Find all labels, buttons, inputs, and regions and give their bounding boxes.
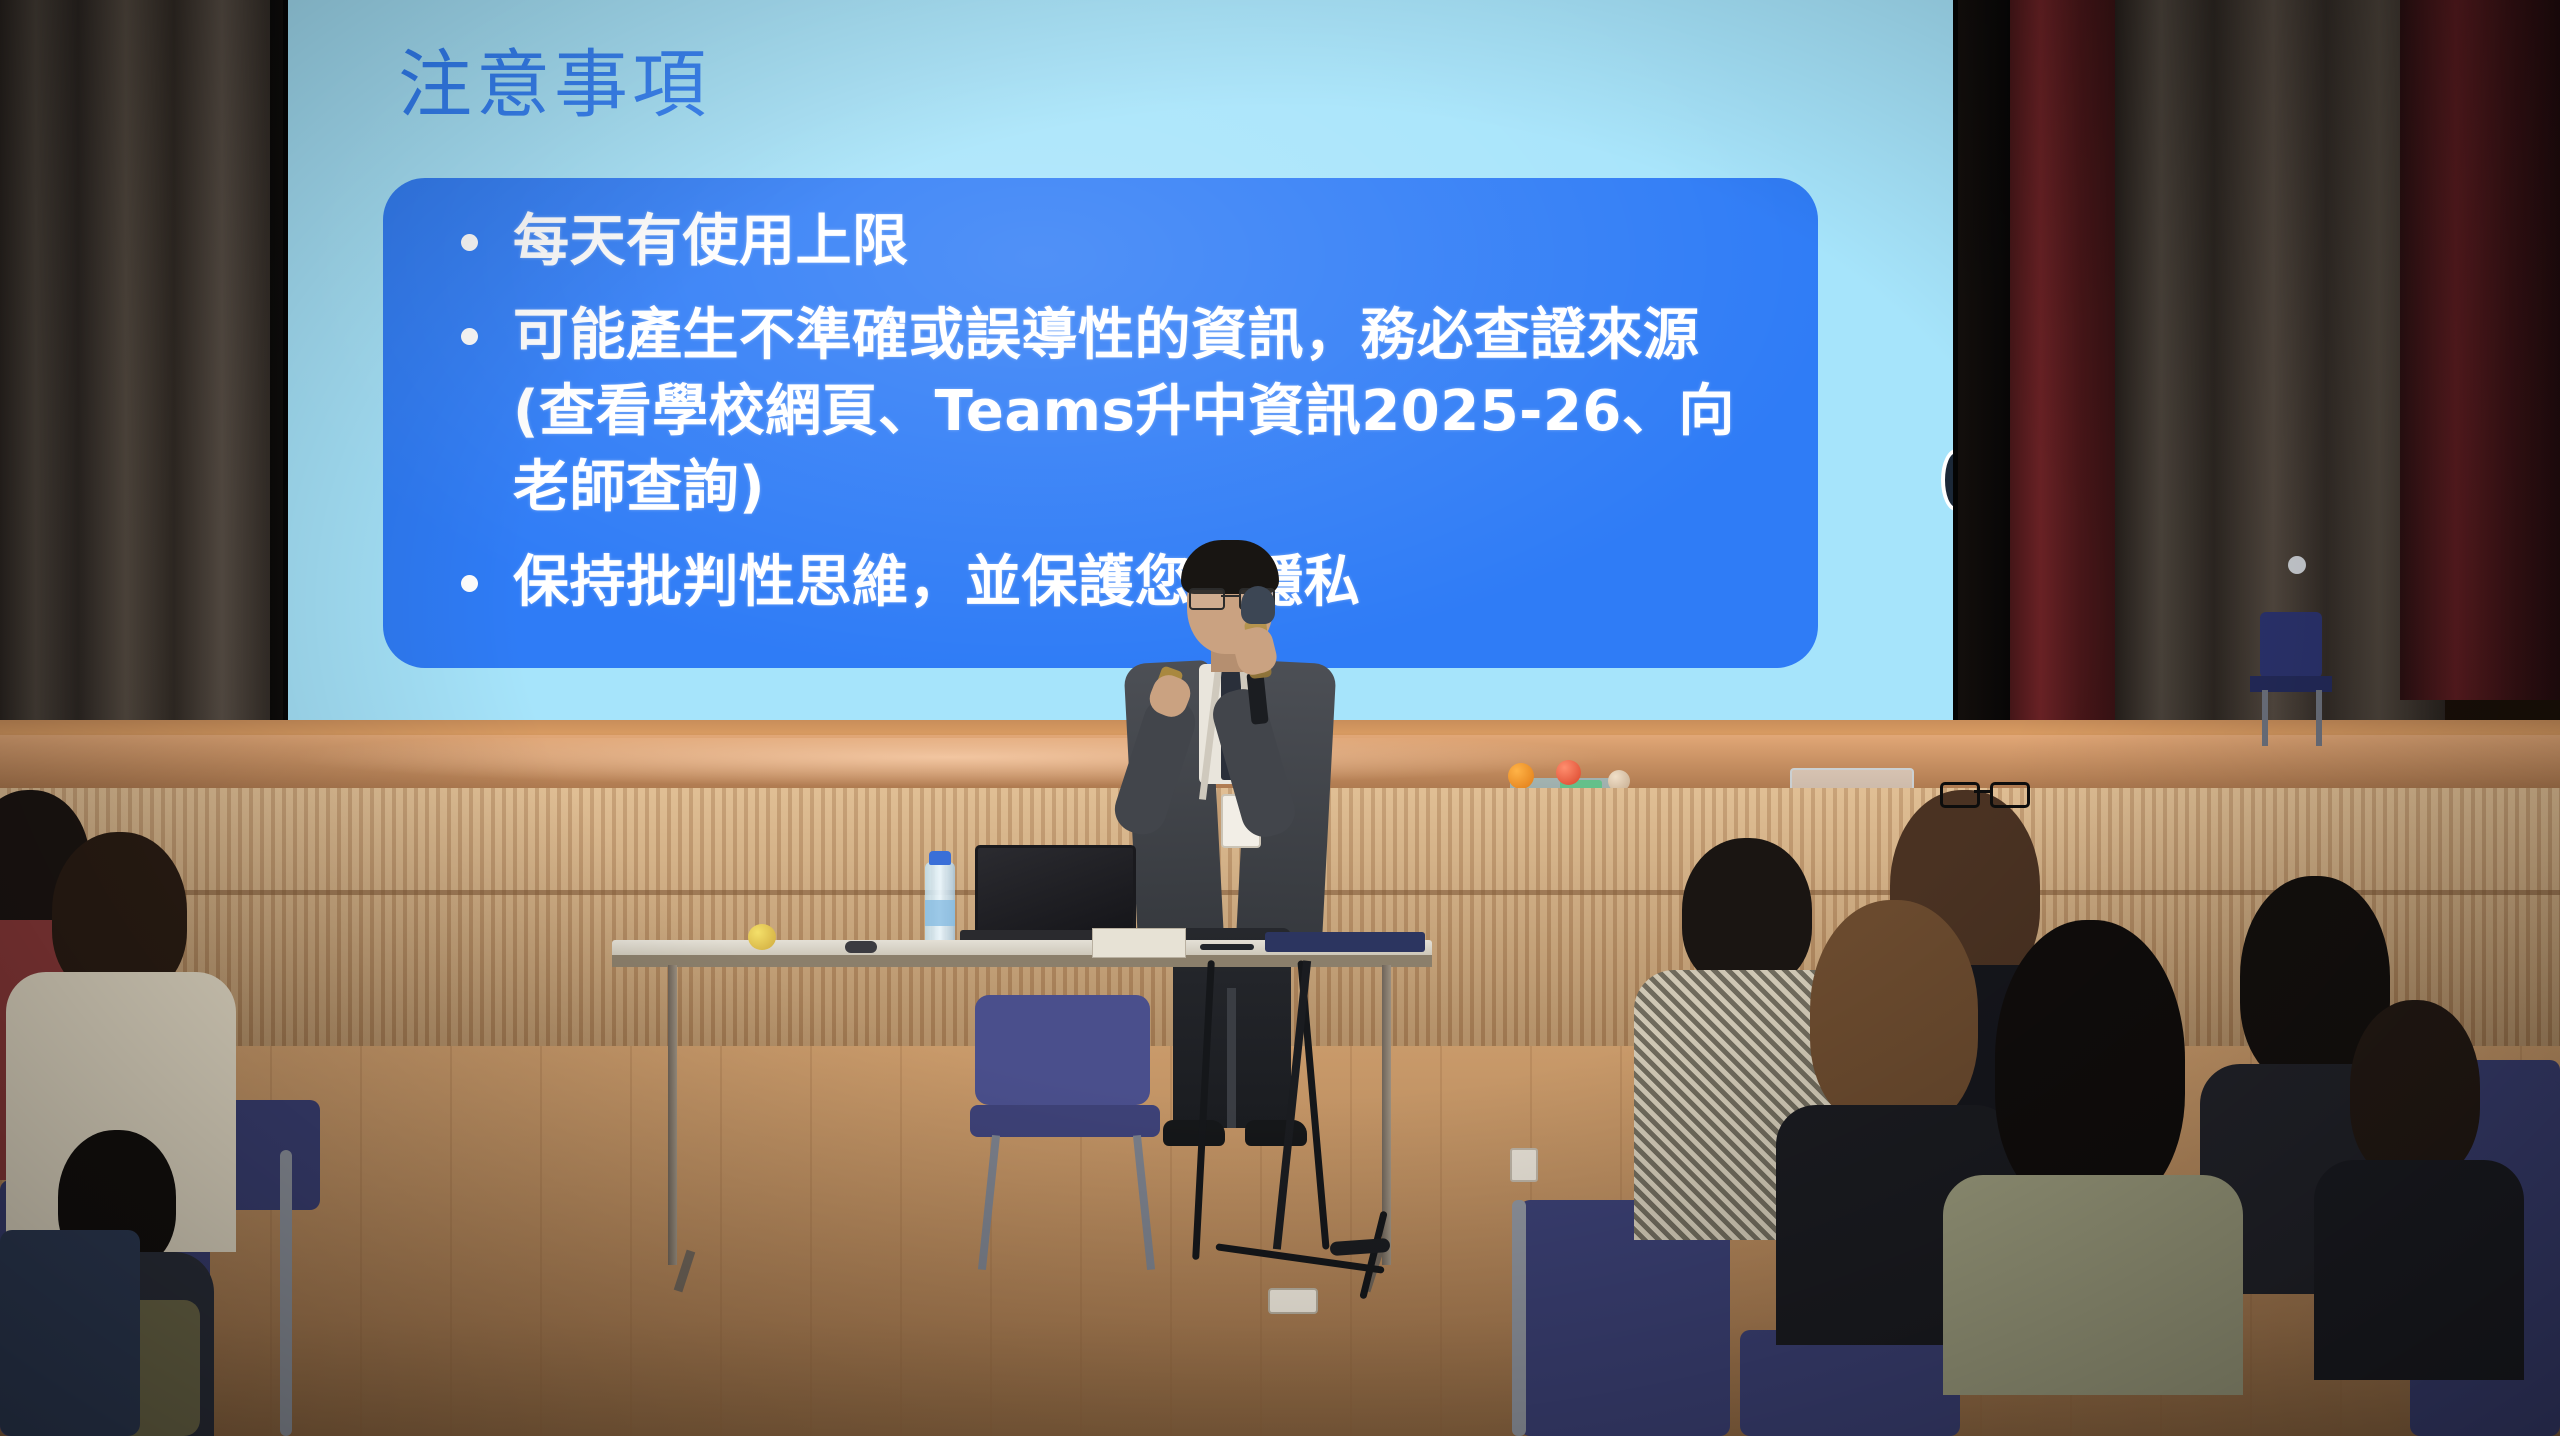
- water-bottle-cap: [929, 851, 951, 865]
- sunglasses-icon: [1940, 782, 2026, 804]
- slide-bullet-2: 可能產生不準確或誤導性的資訊，務必查證來源 (查看學校網頁、Teams升中資訊2…: [445, 298, 1788, 526]
- stage-side-chair-leg-2: [2316, 690, 2322, 746]
- audience-hair: [2350, 1000, 2480, 1180]
- presenter-left-shoe: [1163, 1120, 1225, 1146]
- stage-floor-reflection: [300, 738, 1600, 786]
- presentation-photo-scene: 注意事項 每天有使用上限 可能產生不準確或誤導性的資訊，務必查證來源 (查看學校…: [0, 0, 2560, 1436]
- wall-knob: [2288, 556, 2306, 574]
- water-bottle-label: [925, 900, 955, 926]
- audience-hair: [1682, 838, 1812, 988]
- audience-shoulders: [1943, 1175, 2243, 1395]
- audience-chair-frame: [280, 1150, 292, 1436]
- document-box: [1092, 928, 1186, 958]
- stage-side-chair-back: [2260, 612, 2322, 678]
- power-adapter: [1268, 1288, 1318, 1314]
- audience-chair-frame: [1512, 1200, 1526, 1436]
- orange-ball: [1508, 763, 1534, 789]
- wall-power-outlet: [1510, 1148, 1538, 1182]
- presenter-hair: [1181, 540, 1279, 594]
- presenter: [1115, 528, 1345, 1228]
- slide-bullet-1: 每天有使用上限: [445, 204, 1788, 280]
- stage-side-chair-leg: [2262, 690, 2268, 746]
- red-ball: [1556, 760, 1581, 785]
- table-leg-left: [668, 965, 677, 1265]
- audience-jacket: [0, 1230, 140, 1436]
- apple: [748, 924, 776, 950]
- presenter-right-shoe: [1245, 1120, 1307, 1146]
- screen-right-shadow: [1950, 0, 2010, 745]
- audience-shoulders: [2314, 1160, 2524, 1380]
- mouse-puck: [845, 941, 877, 953]
- megaphone-icon: [1949, 447, 1953, 505]
- mousepad: [1265, 932, 1425, 952]
- audience-hair: [1810, 900, 1978, 1130]
- microphone-icon: [1241, 586, 1275, 624]
- stage-curtain-left: [0, 0, 300, 770]
- slide-title: 注意事項: [398, 48, 710, 122]
- pen: [1200, 944, 1254, 950]
- audience-hair: [1995, 920, 2185, 1210]
- student-with-megaphone-mascot: [1943, 375, 1953, 715]
- slide-bullet-card: 每天有使用上限 可能產生不準確或誤導性的資訊，務必查證來源 (查看學校網頁、Te…: [383, 178, 1818, 668]
- stage-curtain-red-right: [2400, 0, 2560, 700]
- audience-chair: [1740, 1330, 1960, 1436]
